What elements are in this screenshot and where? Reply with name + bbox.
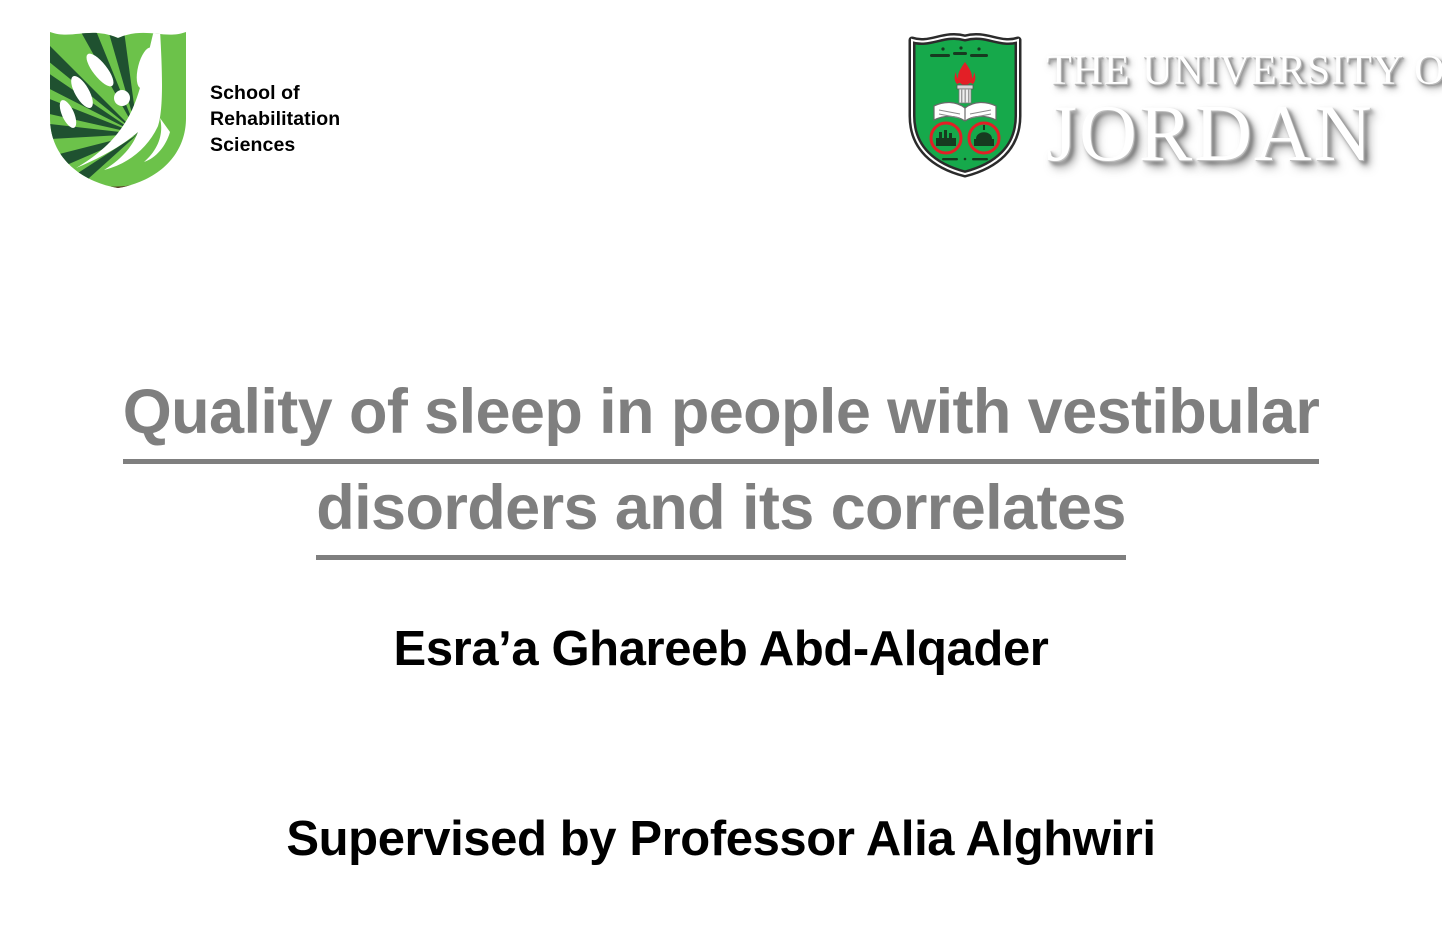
supervisor-name: Supervised by Professor Alia Alghwiri [0,808,1442,870]
slide-title: Quality of sleep in people with vestibul… [0,368,1442,560]
school-logo-text-line-1: School of [210,80,340,106]
title-line-2-text: disorders and its correlates [316,464,1126,560]
title-line-1-text: Quality of sleep in people with vestibul… [123,368,1320,464]
school-of-rehabilitation-sciences-label: School of Rehabilitation Sciences [210,80,340,158]
title-line-1: Quality of sleep in people with vestibul… [0,368,1442,464]
title-line-2: disorders and its correlates [0,464,1442,560]
wordmark-line-the-university-of: The University Of [1046,50,1442,92]
author-name: Esra’a Ghareeb Abd-Alqader [0,618,1442,680]
university-of-jordan-logo-block: The University Of Jordan [900,24,1442,182]
school-of-rehabilitation-sciences-logo-block: School of Rehabilitation Sciences [42,22,340,194]
title-slide: School of Rehabilitation Sciences [0,0,1442,938]
supervisor-block: Supervised by Professor Alia Alghwiri [0,808,1442,870]
author-block: Esra’a Ghareeb Abd-Alqader [0,618,1442,680]
university-of-jordan-wordmark: The University Of Jordan [1046,50,1442,174]
school-logo-text-line-3: Sciences [210,132,340,158]
school-logo-text-line-2: Rehabilitation [210,106,340,132]
wordmark-line-jordan: Jordan [1046,94,1442,174]
slide-header: School of Rehabilitation Sciences [0,0,1442,205]
university-of-jordan-shield-icon [900,24,1030,182]
school-of-rehabilitation-sciences-shield-icon [42,22,194,194]
